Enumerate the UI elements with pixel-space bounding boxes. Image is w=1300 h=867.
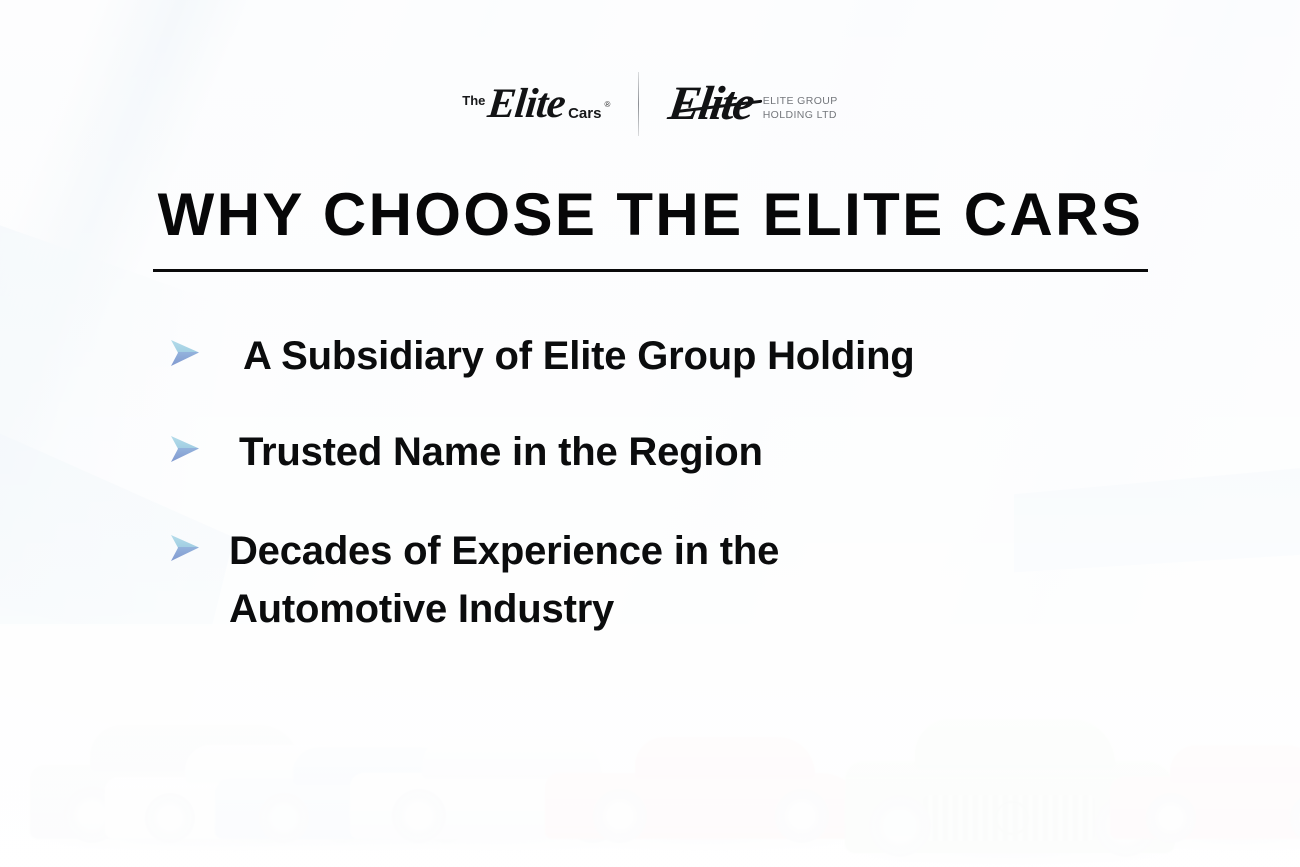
logo-elite-script-wordmark: Elite: [486, 83, 567, 125]
arrow-right-icon: [165, 333, 205, 373]
arrow-right-icon: [165, 429, 205, 469]
logo-elite-group-line2: HOLDING LTD: [763, 109, 837, 121]
list-item-label: Decades of Experience in the Automotive …: [229, 522, 779, 639]
logo-elite-group-script-wordmark: Elite: [666, 80, 756, 128]
logo-elite-group-line1: ELITE GROUP: [763, 95, 838, 107]
page-title: WHY CHOOSE THE ELITE CARS: [153, 183, 1148, 246]
list-item: A Subsidiary of Elite Group Holding: [165, 327, 1240, 385]
logo-elite-group-subtext: ELITE GROUPHOLDING LTD: [763, 94, 838, 122]
logo-the-elite-cars: The Elite Cars ®: [462, 83, 638, 125]
logo-elite-group-holding: Elite ELITE GROUPHOLDING LTD: [639, 80, 837, 128]
logo-bar: The Elite Cars ® Elite ELITE GROUPHOLDIN…: [0, 72, 1300, 136]
list-item-label: Trusted Name in the Region: [239, 423, 763, 481]
logo-cars-suffix: Cars: [568, 106, 601, 121]
logo-the-prefix: The: [462, 94, 485, 107]
list-item-label: A Subsidiary of Elite Group Holding: [243, 327, 915, 385]
registered-trademark-icon: ®: [604, 100, 610, 109]
title-underline-rule: [153, 269, 1148, 272]
list-item: Trusted Name in the Region: [165, 423, 1240, 481]
list-item: Decades of Experience in the Automotive …: [165, 522, 1240, 639]
arrow-right-icon: [165, 528, 205, 568]
slide-content: The Elite Cars ® Elite ELITE GROUPHOLDIN…: [0, 0, 1300, 867]
bullet-list: A Subsidiary of Elite Group Holding Trus…: [165, 327, 1240, 673]
slide-root: The Elite Cars ® Elite ELITE GROUPHOLDIN…: [0, 0, 1300, 867]
